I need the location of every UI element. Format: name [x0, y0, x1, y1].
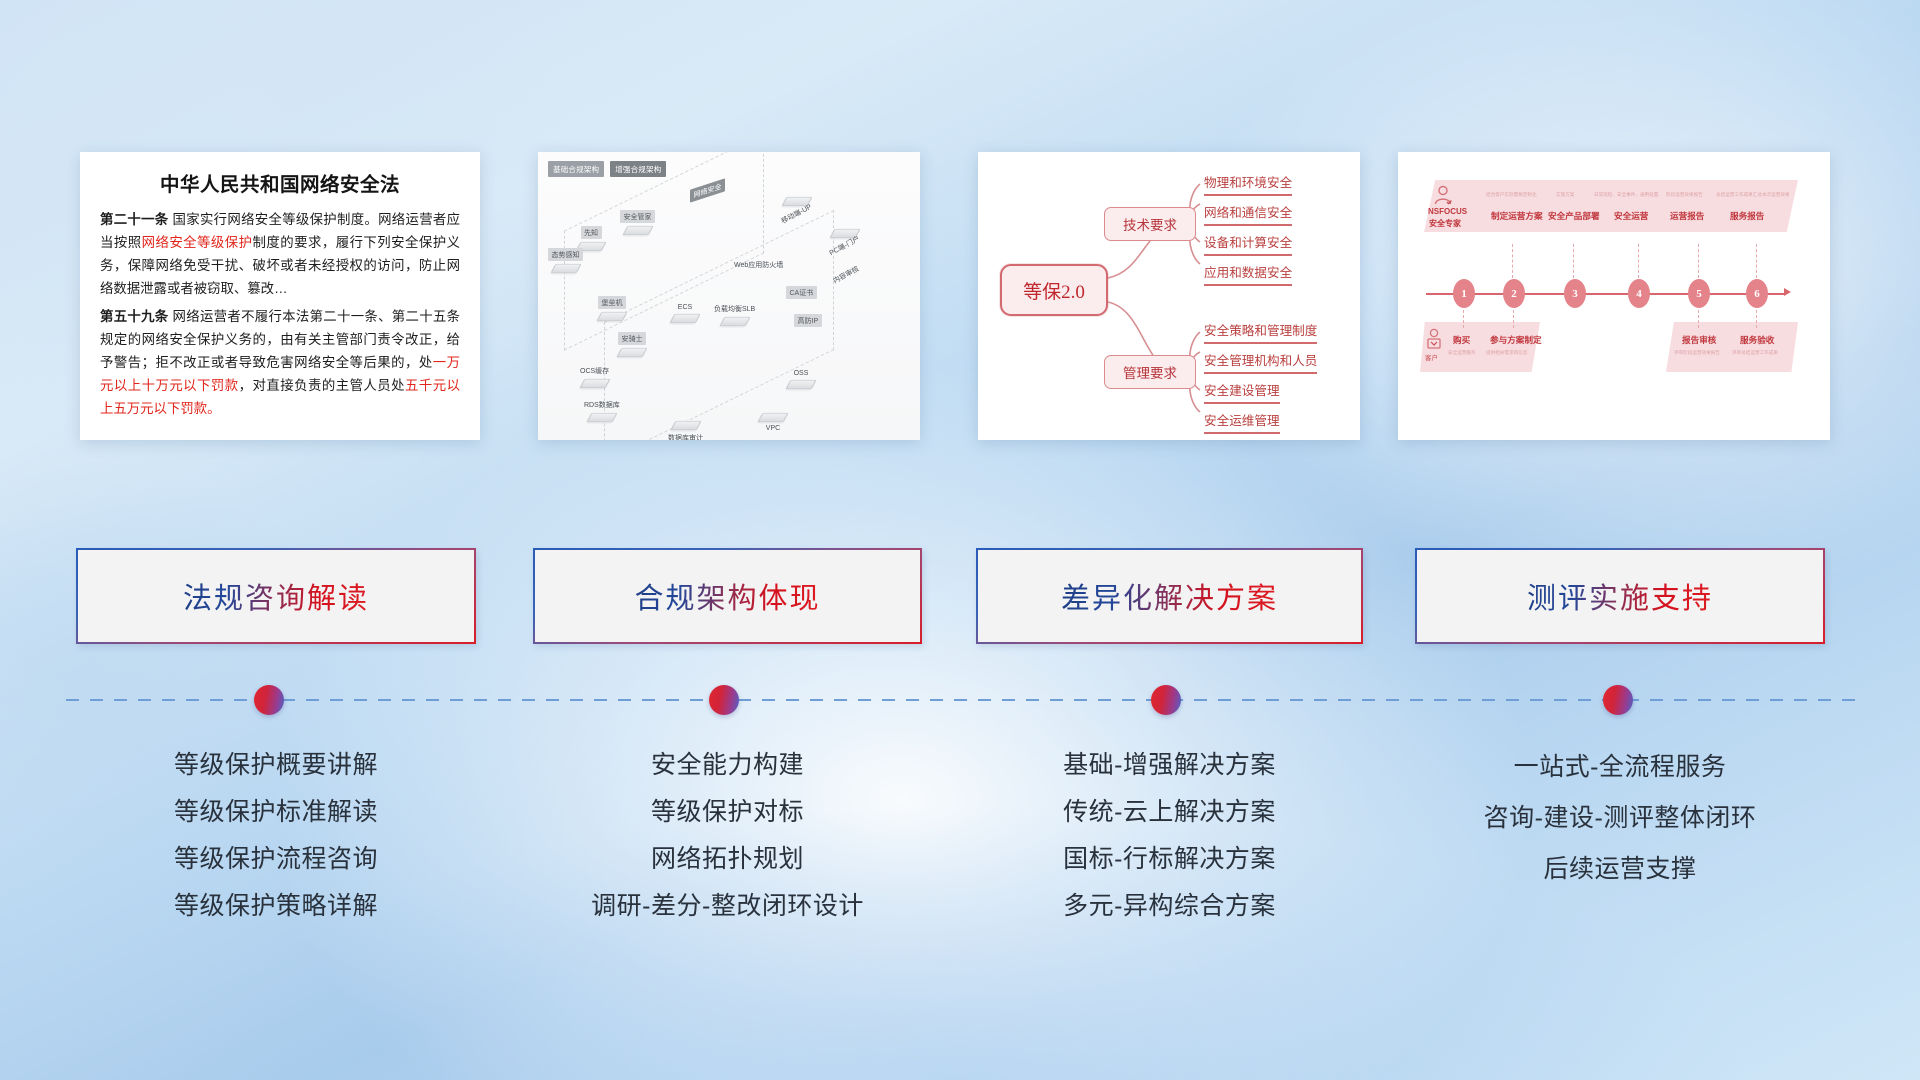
arch-node-vpc: VPC: [760, 410, 786, 432]
nsfocus-step-node[interactable]: 3: [1564, 279, 1586, 308]
nsfocus-connector: [1513, 310, 1514, 328]
feature-column-compliance-architecture: 安全能力构建 等级保护对标 网络拓扑规划 调研-差分-整改闭环设计: [533, 742, 922, 930]
list-item: 调研-差分-整改闭环设计: [533, 883, 922, 930]
feature-column-regulation-consulting: 等级保护概要讲解 等级保护标准解读 等级保护流程咨询 等级保护策略详解: [76, 742, 476, 930]
nsfocus-top-step-label: 安全产品部署: [1548, 210, 1600, 222]
arch-node-shape: [550, 264, 581, 273]
nsfocus-top-step-sub: 总结运营工作成果汇总本次运营效果: [1716, 192, 1790, 198]
arch-node-pc-portal: PC端-门户: [828, 226, 861, 251]
arch-node-shape: [617, 348, 648, 357]
customer-person-icon: [1424, 328, 1444, 350]
law-article-59: 第五十九条 网络运营者不履行本法第二十一条、第二十五条规定的网络安全保护义务的，…: [100, 305, 460, 420]
list-item: 基础-增强解决方案: [976, 742, 1363, 789]
title-box-regulation-consulting[interactable]: 法规咨询解读: [76, 548, 476, 644]
arch-node-label: 高防IP: [794, 314, 822, 327]
title-box-label: 合规架构体现: [634, 575, 820, 617]
timeline-node-2[interactable]: [709, 685, 739, 715]
arch-node-shape: [670, 421, 701, 430]
arch-node-shape: [670, 314, 701, 323]
nsfocus-bottom-step-label: 报告审核: [1682, 334, 1716, 346]
nsfocus-connector: [1638, 244, 1639, 278]
title-box-evaluation-support[interactable]: 测评实施支持: [1415, 548, 1825, 644]
list-item: 一站式-全流程服务: [1415, 742, 1825, 793]
nsfocus-canvas: NSFOCUS 安全专家 结合客户实际需要定制化 制定运营方案 实施方案 安全产…: [1398, 152, 1830, 440]
title-box-differentiated-solution[interactable]: 差异化解决方案: [976, 548, 1363, 644]
arch-node-label: 内容审核: [831, 264, 860, 286]
feature-column-differentiated-solution: 基础-增强解决方案 传统-云上解决方案 国标-行标解决方案 多元-异构综合方案: [976, 742, 1363, 930]
arch-node-label: OSS: [794, 370, 809, 377]
mindmap-branch-management[interactable]: 管理要求: [1104, 355, 1196, 389]
arch-node-shape: [597, 312, 628, 321]
mindmap-leaf[interactable]: 安全运维管理: [1204, 410, 1280, 434]
feature-column-evaluation-support: 一站式-全流程服务 咨询-建设-测评整体闭环 后续运营支撑: [1415, 742, 1825, 895]
law-article-59-label: 第五十九条: [100, 309, 169, 324]
law-title: 中华人民共和国网络安全法: [100, 168, 460, 197]
arch-node-content-audit: 内容审核: [832, 270, 860, 280]
mindmap-leaf[interactable]: 安全管理机构和人员: [1204, 350, 1317, 374]
nsfocus-top-band: [1424, 180, 1798, 232]
screenshot-card-row: 中华人民共和国网络安全法 第二十一条 国家实行网络安全等级保护制度。网络运营者应…: [0, 152, 1920, 452]
nsfocus-connector: [1698, 244, 1699, 278]
mindmap-canvas: 等保2.0 技术要求 管理要求 物理和环境安全 网络和通信安全 设备和计算安全 …: [978, 152, 1360, 440]
arch-node-security-butler: 安全管家: [620, 210, 655, 238]
nsfocus-connector: [1756, 310, 1757, 328]
arch-node-slb: 负载均衡SLB: [714, 304, 755, 329]
arch-node-ecs: ECS: [672, 304, 698, 326]
nsfocus-top-step-sub: 实施方案: [1556, 192, 1574, 198]
nsfocus-connector: [1698, 310, 1699, 328]
nsfocus-top-step-label: 制定运营方案: [1491, 210, 1543, 222]
arch-node-label: 负载均衡SLB: [714, 304, 755, 314]
title-box-label: 差异化解决方案: [1061, 575, 1278, 617]
nsfocus-bottom-step-sub: 评审阶段运营效果报告: [1674, 350, 1720, 356]
nsfocus-bottom-step-label: 购买: [1453, 334, 1470, 346]
arch-node-situational-awareness: 态势感知: [548, 248, 583, 276]
arch-node-label: 安全管家: [620, 210, 655, 223]
arch-node-waf: Web应用防火墙: [734, 260, 783, 270]
law-article-21: 第二十一条 国家实行网络安全等级保护制度。网络运营者应当按照网络安全等级保护制度…: [100, 208, 460, 300]
arch-node-shape: [719, 317, 750, 326]
mindmap-leaf[interactable]: 设备和计算安全: [1204, 232, 1292, 256]
mindmap-leaf[interactable]: 应用和数据安全: [1204, 262, 1292, 286]
mindmap-leaf[interactable]: 安全建设管理: [1204, 380, 1280, 404]
list-item: 等级保护概要讲解: [76, 742, 476, 789]
nsfocus-bottom-band-right: [1666, 322, 1798, 372]
timeline-node-1[interactable]: [254, 685, 284, 715]
arch-node-label: 先知: [581, 226, 602, 239]
nsfocus-connector: [1756, 244, 1757, 278]
arch-node-shape: [786, 380, 817, 389]
nsfocus-expert-brand: NSFOCUS: [1428, 207, 1467, 216]
title-box-compliance-architecture[interactable]: 合规架构体现: [533, 548, 922, 644]
arch-node-shape: [758, 413, 789, 422]
law-article-21-highlight: 网络安全等级保护: [142, 235, 253, 250]
timeline-node-3[interactable]: [1151, 685, 1181, 715]
arch-node-label: CA证书: [786, 286, 817, 299]
list-item: 后续运营支撑: [1415, 844, 1825, 895]
list-item: 多元-异构综合方案: [976, 883, 1363, 930]
card-nsfocus-timeline[interactable]: NSFOCUS 安全专家 结合客户实际需要定制化 制定运营方案 实施方案 安全产…: [1398, 152, 1830, 440]
title-box-label: 测评实施支持: [1527, 575, 1713, 617]
list-item: 咨询-建设-测评整体闭环: [1415, 793, 1825, 844]
arch-node-label: 堡垒机: [598, 296, 626, 309]
nsfocus-bottom-step-sub: 提供相关需求和信息: [1486, 350, 1527, 356]
nsfocus-bottom-step-label: 参与方案制定: [1490, 334, 1542, 346]
mindmap-leaf[interactable]: 网络和通信安全: [1204, 202, 1292, 226]
law-article-21-label: 第二十一条: [100, 212, 169, 227]
architecture-nodes: 网络安全 安全管家 先知 态势感知 堡垒机: [546, 174, 912, 432]
arch-node-shape: [579, 379, 610, 388]
law-document: 中华人民共和国网络安全法 第二十一条 国家实行网络安全等级保护制度。网络运营者应…: [80, 152, 480, 430]
arch-node-shape: [586, 413, 617, 422]
arch-node-anqishi: 安骑士: [618, 332, 646, 360]
arch-node-label: ECS: [678, 304, 692, 311]
arch-node-anti-ddos-ip: 高防IP: [794, 314, 822, 327]
nsfocus-top-step-sub: 日常巡检、安全事件、通用处置: [1594, 192, 1658, 198]
arch-node-label: Web应用防火墙: [734, 260, 783, 270]
mindmap-leaf[interactable]: 物理和环境安全: [1204, 172, 1292, 196]
nsfocus-step-node[interactable]: 6: [1746, 279, 1768, 308]
arch-node-label: 态势感知: [548, 248, 583, 261]
list-item: 等级保护策略详解: [76, 883, 476, 930]
nsfocus-axis-arrow: [1784, 288, 1791, 296]
nsfocus-step-node[interactable]: 5: [1688, 279, 1710, 308]
arch-node-label: 数据库审计: [668, 433, 703, 440]
architecture-canvas: 基础合规架构 增强合规架构 网络安全 安全管家 先知: [538, 152, 920, 440]
arch-node-oss: OSS: [788, 370, 814, 392]
nsfocus-top-step-label: 安全运营: [1614, 210, 1648, 222]
list-item: 传统-云上解决方案: [976, 789, 1363, 836]
arch-node-mobile-up: 移动端-UP: [780, 194, 813, 219]
nsfocus-top-step-label: 运营报告: [1670, 210, 1704, 222]
nsfocus-connector: [1512, 244, 1513, 278]
nsfocus-connector: [1573, 244, 1574, 278]
arch-node-label: RDS数据库: [584, 400, 620, 410]
arch-node-label: OCS缓存: [580, 366, 609, 376]
card-mindmap[interactable]: 等保2.0 技术要求 管理要求 物理和环境安全 网络和通信安全 设备和计算安全 …: [978, 152, 1360, 440]
arch-node-ca-cert: CA证书: [786, 286, 817, 299]
expert-person-icon: [1432, 185, 1454, 209]
arch-node-bastion-host: 堡垒机: [598, 296, 626, 324]
arch-node-rds: RDS数据库: [584, 400, 620, 425]
arch-node-ocs-cache: OCS缓存: [580, 366, 609, 391]
arch-node-network-security: 网络安全: [690, 184, 725, 197]
nsfocus-top-step-label: 服务报告: [1730, 210, 1764, 222]
arch-node-label: 安骑士: [618, 332, 646, 345]
nsfocus-customer-label: 客户: [1425, 352, 1438, 362]
arch-node-label: VPC: [766, 425, 780, 432]
timeline-rail: [66, 699, 1856, 701]
mindmap-root-node[interactable]: 等保2.0: [1000, 264, 1108, 316]
nsfocus-step-node[interactable]: 2: [1503, 279, 1525, 308]
nsfocus-bottom-step-sub: 评审总结运营工作成果: [1732, 350, 1778, 356]
list-item: 国标-行标解决方案: [976, 836, 1363, 883]
nsfocus-axis-line: [1426, 293, 1786, 295]
card-law-text[interactable]: 中华人民共和国网络安全法 第二十一条 国家实行网络安全等级保护制度。网络运营者应…: [80, 152, 480, 440]
nsfocus-step-node[interactable]: 4: [1628, 279, 1650, 308]
list-item: 网络拓扑规划: [533, 836, 922, 883]
mindmap-branch-technical[interactable]: 技术要求: [1104, 207, 1196, 241]
timeline-node-4[interactable]: [1603, 685, 1633, 715]
nsfocus-connector: [1463, 310, 1464, 328]
nsfocus-bottom-step-label: 服务验收: [1740, 334, 1774, 346]
poster-stage: 中华人民共和国网络安全法 第二十一条 国家实行网络安全等级保护制度。网络运营者应…: [0, 0, 1920, 1080]
nsfocus-top-step-sub: 阶段运营效果报告: [1666, 192, 1703, 198]
nsfocus-step-node[interactable]: 1: [1453, 279, 1475, 308]
card-architecture-diagram[interactable]: 基础合规架构 增强合规架构 网络安全 安全管家 先知: [538, 152, 920, 440]
list-item: 等级保护流程咨询: [76, 836, 476, 883]
nsfocus-top-step-sub: 结合客户实际需要定制化: [1486, 192, 1537, 198]
mindmap-leaf[interactable]: 安全策略和管理制度: [1204, 320, 1317, 344]
list-item: 等级保护对标: [533, 789, 922, 836]
title-box-row: 法规咨询解读 合规架构体现 差异化解决方案 测评实施支持: [0, 548, 1920, 648]
list-item: 等级保护标准解读: [76, 789, 476, 836]
law-article-59-text-b: ，对直接负责的主管人员处: [239, 378, 405, 393]
nsfocus-expert-role: 安全专家: [1429, 218, 1461, 229]
title-box-label: 法规咨询解读: [183, 575, 369, 617]
arch-node-shape: [622, 226, 653, 235]
nsfocus-bottom-step-sub: 安全运营服务: [1448, 350, 1476, 356]
list-item: 安全能力构建: [533, 742, 922, 789]
arch-node-db-audit: 数据库审计: [668, 418, 703, 440]
